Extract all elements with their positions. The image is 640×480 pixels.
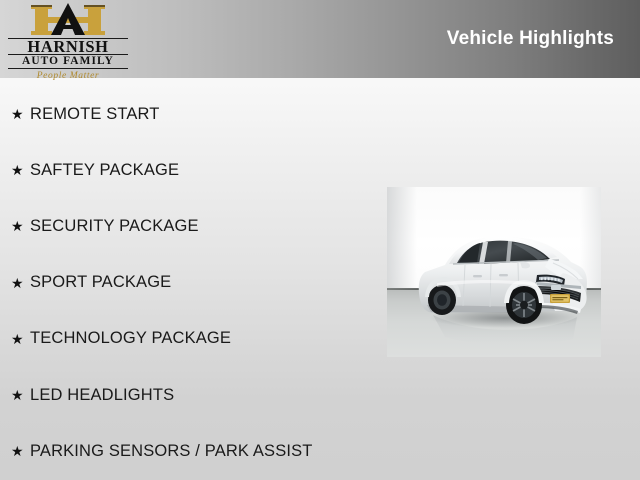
- sedan-illustration-icon: [387, 187, 601, 357]
- vehicle-highlights-list: ★ REMOTE START ★ SAFTEY PACKAGE ★ SECURI…: [0, 86, 380, 479]
- list-item-label: TECHNOLOGY PACKAGE: [30, 329, 231, 348]
- star-bullet-icon: ★: [11, 276, 30, 290]
- page-bottom-strip: [0, 474, 640, 480]
- list-item-label: PARKING SENSORS / PARK ASSIST: [30, 442, 312, 461]
- dealer-logo[interactable]: HARNISH AUTO FAMILY People Matter: [8, 2, 128, 76]
- harnish-monogram-icon: [8, 2, 128, 38]
- star-bullet-icon: ★: [11, 219, 30, 233]
- logo-tagline: People Matter: [8, 69, 128, 83]
- star-bullet-icon: ★: [11, 388, 30, 402]
- list-item-label: SECURITY PACKAGE: [30, 217, 199, 236]
- logo-name: HARNISH: [8, 38, 128, 55]
- vehicle-photo[interactable]: [387, 187, 601, 357]
- star-bullet-icon: ★: [11, 107, 30, 121]
- logo-subname: AUTO FAMILY: [8, 55, 128, 69]
- star-bullet-icon: ★: [11, 444, 30, 458]
- star-bullet-icon: ★: [11, 163, 30, 177]
- list-item-label: SAFTEY PACKAGE: [30, 161, 179, 180]
- list-item: ★ SAFTEY PACKAGE: [0, 142, 380, 198]
- list-item: ★ REMOTE START: [0, 86, 380, 142]
- list-item: ★ LED HEADLIGHTS: [0, 367, 380, 423]
- star-bullet-icon: ★: [11, 332, 30, 346]
- vehicle-highlights-page: HARNISH AUTO FAMILY People Matter Vehicl…: [0, 0, 640, 480]
- page-header: HARNISH AUTO FAMILY People Matter Vehicl…: [0, 0, 640, 78]
- list-item: ★ PARKING SENSORS / PARK ASSIST: [0, 423, 380, 479]
- page-title: Vehicle Highlights: [447, 28, 614, 50]
- list-item-label: SPORT PACKAGE: [30, 273, 171, 292]
- list-item: ★ SECURITY PACKAGE: [0, 198, 380, 254]
- list-item: ★ SPORT PACKAGE: [0, 255, 380, 311]
- list-item-label: REMOTE START: [30, 105, 160, 124]
- list-item: ★ TECHNOLOGY PACKAGE: [0, 311, 380, 367]
- list-item-label: LED HEADLIGHTS: [30, 386, 174, 405]
